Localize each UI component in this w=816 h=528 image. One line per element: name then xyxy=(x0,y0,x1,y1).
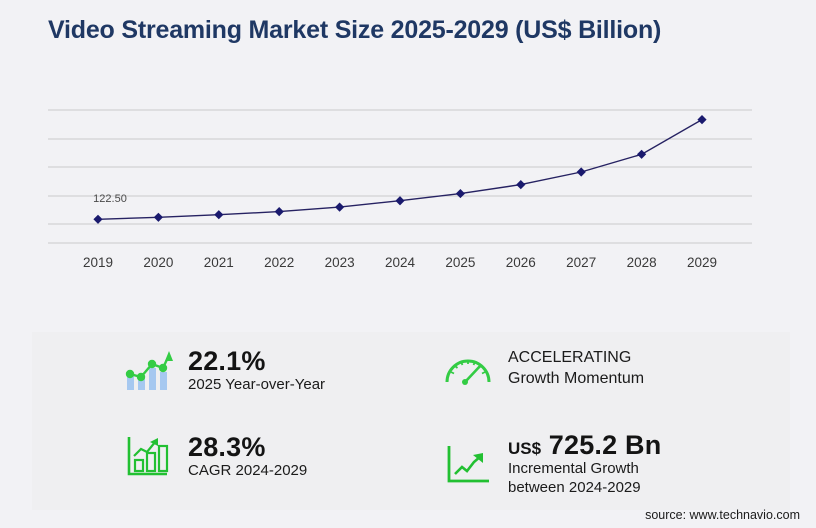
x-tick-2020: 2020 xyxy=(143,255,173,270)
kpi-value-incremental: US$ 725.2 Bn xyxy=(508,430,661,460)
kpi-card-yoy: 22.1% 2025 Year-over-Year xyxy=(122,346,325,395)
kpi-label-incremental-line1: Incremental Growth xyxy=(508,460,661,479)
data-point-2023[interactable] xyxy=(335,203,344,212)
kpi-label-yoy: 2025 Year-over-Year xyxy=(188,376,325,395)
kpi-label-cagr: CAGR 2024-2029 xyxy=(188,462,307,481)
x-tick-2024: 2024 xyxy=(385,255,415,270)
x-tick-2029: 2029 xyxy=(687,255,717,270)
x-tick-2022: 2022 xyxy=(264,255,294,270)
page-title: Video Streaming Market Size 2025-2029 (U… xyxy=(48,16,661,45)
data-point-2026[interactable] xyxy=(516,180,525,189)
x-tick-2028: 2028 xyxy=(627,255,657,270)
kpi-text-incremental: US$ 725.2 Bn Incremental Growth between … xyxy=(508,430,661,498)
data-point-2027[interactable] xyxy=(577,167,586,176)
data-label-2019: 122.50 xyxy=(93,193,127,205)
kpi-card-cagr: 28.3% CAGR 2024-2029 xyxy=(122,432,307,481)
kpi-panel: 22.1% 2025 Year-over-Year 28.3% CAGR 202… xyxy=(32,332,790,510)
data-point-2024[interactable] xyxy=(395,196,404,205)
line-arrow-up-icon xyxy=(442,441,494,487)
line-chart: 122.50 xyxy=(0,88,816,278)
x-tick-2019: 2019 xyxy=(83,255,113,270)
chart-canvas xyxy=(0,88,816,278)
kpi-value-yoy: 22.1% xyxy=(188,346,325,376)
bar-trend-up-icon xyxy=(122,347,174,393)
x-tick-2025: 2025 xyxy=(445,255,475,270)
gridlines xyxy=(48,110,752,243)
kpi-amount-incremental: 725.2 Bn xyxy=(549,430,662,460)
kpi-text-yoy: 22.1% 2025 Year-over-Year xyxy=(188,346,325,395)
data-point-2021[interactable] xyxy=(214,210,223,219)
data-point-2022[interactable] xyxy=(275,207,284,216)
x-tick-2026: 2026 xyxy=(506,255,536,270)
x-tick-2021: 2021 xyxy=(204,255,234,270)
kpi-value-cagr: 28.3% xyxy=(188,432,307,462)
kpi-card-incremental: US$ 725.2 Bn Incremental Growth between … xyxy=(442,430,661,498)
data-point-2028[interactable] xyxy=(637,150,646,159)
kpi-card-momentum: ACCELERATING Growth Momentum xyxy=(442,346,644,392)
bar-chart-arrow-icon xyxy=(122,433,174,479)
x-tick-2027: 2027 xyxy=(566,255,596,270)
kpi-label-momentum: Growth Momentum xyxy=(508,369,644,390)
data-point-2019[interactable] xyxy=(93,215,102,224)
speedometer-icon xyxy=(442,346,494,392)
x-tick-2023: 2023 xyxy=(325,255,355,270)
kpi-label-incremental-line2: between 2024-2029 xyxy=(508,479,661,498)
data-point-2025[interactable] xyxy=(456,189,465,198)
kpi-unit-incremental: US$ xyxy=(508,439,541,458)
kpi-text-cagr: 28.3% CAGR 2024-2029 xyxy=(188,432,307,481)
data-point-2029[interactable] xyxy=(697,115,706,124)
data-point-2020[interactable] xyxy=(154,213,163,222)
kpi-headline-momentum: ACCELERATING xyxy=(508,348,644,369)
kpi-text-momentum: ACCELERATING Growth Momentum xyxy=(508,348,644,390)
x-axis: 2019202020212022202320242025202620272028… xyxy=(0,255,816,277)
source-attribution: source: www.technavio.com xyxy=(645,508,800,522)
data-series xyxy=(93,115,706,224)
